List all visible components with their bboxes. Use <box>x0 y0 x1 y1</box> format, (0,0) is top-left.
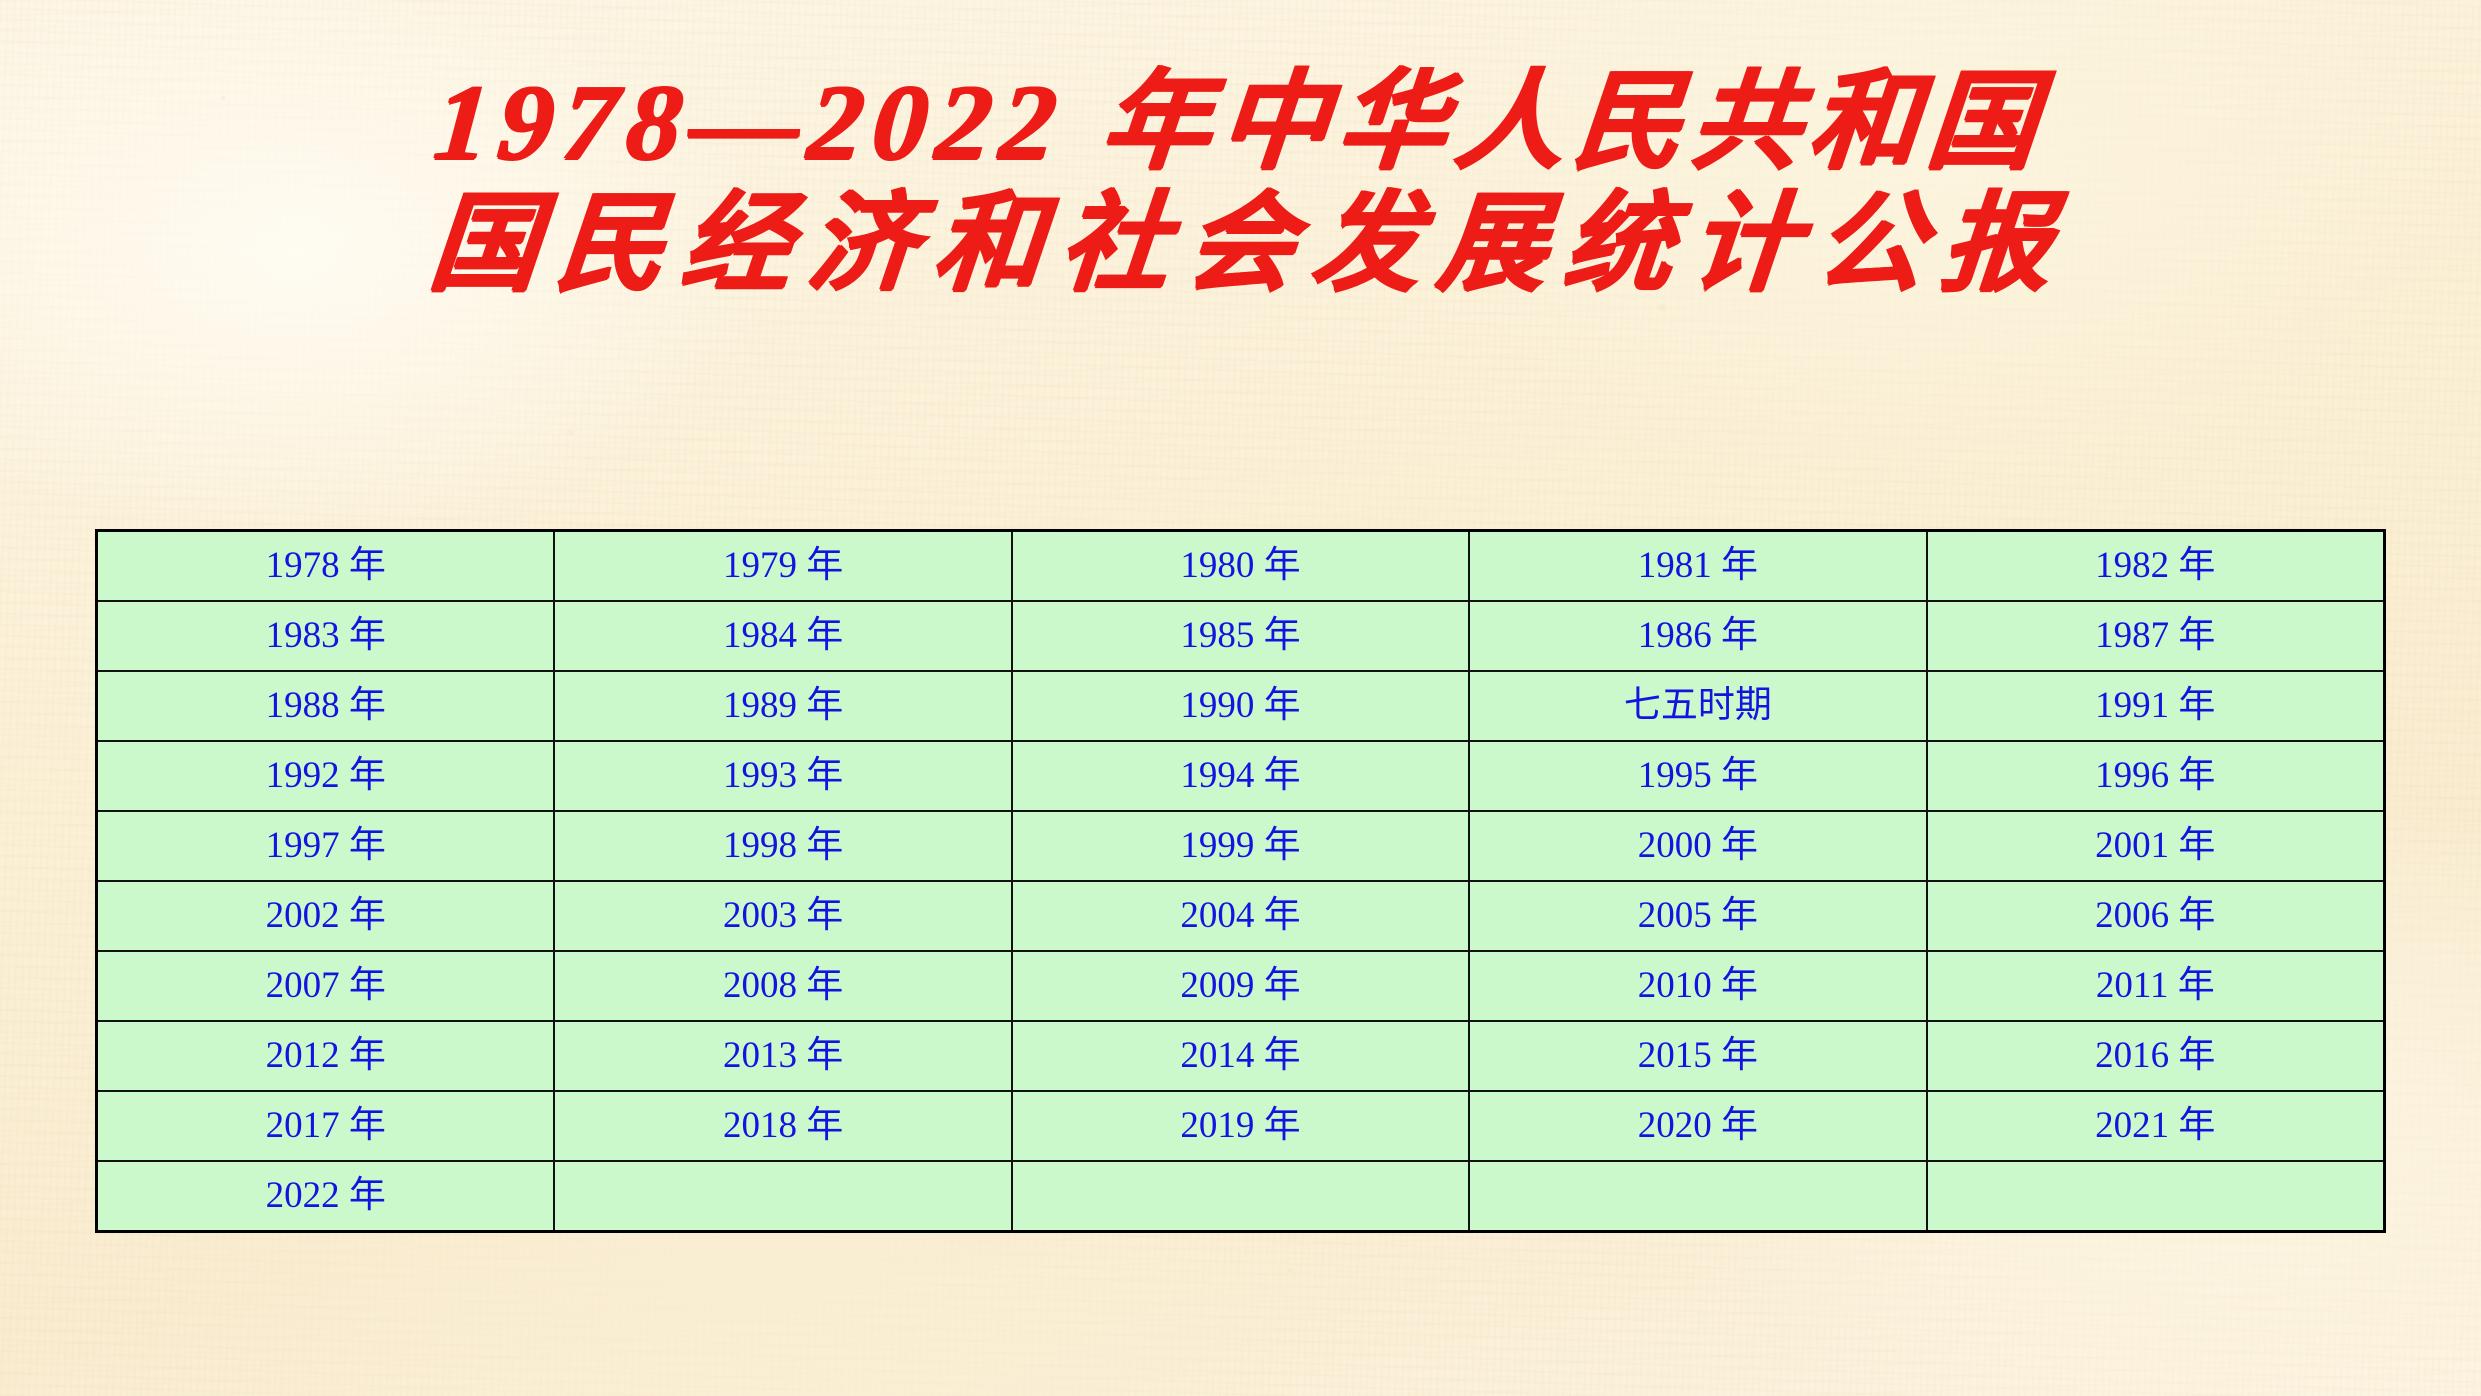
year-cell[interactable]: 2014 年 <box>1012 1021 1469 1091</box>
year-cell[interactable]: 2008 年 <box>554 951 1011 1021</box>
year-cell[interactable]: 2021 年 <box>1927 1091 2385 1161</box>
year-cell[interactable]: 2000 年 <box>1469 811 1926 881</box>
year-cell[interactable]: 1991 年 <box>1927 671 2385 741</box>
year-cell[interactable]: 1978 年 <box>97 531 555 602</box>
year-index-table-body: 1978 年1979 年1980 年1981 年1982 年1983 年1984… <box>97 531 2385 1232</box>
table-row: 1988 年1989 年1990 年七五时期1991 年 <box>97 671 2385 741</box>
year-cell[interactable]: 1979 年 <box>554 531 1011 602</box>
year-cell[interactable]: 1983 年 <box>97 601 555 671</box>
year-cell[interactable]: 2002 年 <box>97 881 555 951</box>
year-cell[interactable]: 1992 年 <box>97 741 555 811</box>
year-cell[interactable]: 1994 年 <box>1012 741 1469 811</box>
year-cell[interactable]: 2017 年 <box>97 1091 555 1161</box>
year-cell[interactable]: 1993 年 <box>554 741 1011 811</box>
table-row: 2017 年2018 年2019 年2020 年2021 年 <box>97 1091 2385 1161</box>
year-cell[interactable]: 1987 年 <box>1927 601 2385 671</box>
year-cell-empty <box>1012 1161 1469 1232</box>
table-row: 1983 年1984 年1985 年1986 年1987 年 <box>97 601 2385 671</box>
year-cell[interactable]: 2015 年 <box>1469 1021 1926 1091</box>
year-cell[interactable]: 1980 年 <box>1012 531 1469 602</box>
year-cell[interactable]: 1984 年 <box>554 601 1011 671</box>
year-cell[interactable]: 七五时期 <box>1469 671 1926 741</box>
table-row: 2002 年2003 年2004 年2005 年2006 年 <box>97 881 2385 951</box>
year-cell[interactable]: 2004 年 <box>1012 881 1469 951</box>
year-cell[interactable]: 2003 年 <box>554 881 1011 951</box>
year-cell[interactable]: 2018 年 <box>554 1091 1011 1161</box>
year-cell[interactable]: 1988 年 <box>97 671 555 741</box>
table-row: 1992 年1993 年1994 年1995 年1996 年 <box>97 741 2385 811</box>
title-line-1: 1978—2022 年中华人民共和国 <box>0 62 2481 184</box>
title-line-2: 国民经济和社会发展统计公报 <box>0 184 2481 306</box>
year-cell[interactable]: 1995 年 <box>1469 741 1926 811</box>
year-cell-empty <box>1927 1161 2385 1232</box>
year-cell[interactable]: 1989 年 <box>554 671 1011 741</box>
year-cell[interactable]: 1986 年 <box>1469 601 1926 671</box>
year-cell[interactable]: 1999 年 <box>1012 811 1469 881</box>
year-cell[interactable]: 1982 年 <box>1927 531 2385 602</box>
year-cell[interactable]: 1996 年 <box>1927 741 2385 811</box>
year-cell[interactable]: 2009 年 <box>1012 951 1469 1021</box>
year-index-table: 1978 年1979 年1980 年1981 年1982 年1983 年1984… <box>95 529 2386 1233</box>
year-cell[interactable]: 2013 年 <box>554 1021 1011 1091</box>
year-cell-empty <box>1469 1161 1926 1232</box>
table-row: 2007 年2008 年2009 年2010 年2011 年 <box>97 951 2385 1021</box>
year-cell[interactable]: 2006 年 <box>1927 881 2385 951</box>
year-cell[interactable]: 2012 年 <box>97 1021 555 1091</box>
year-cell[interactable]: 2011 年 <box>1927 951 2385 1021</box>
year-cell-empty <box>554 1161 1011 1232</box>
year-cell[interactable]: 2001 年 <box>1927 811 2385 881</box>
year-cell[interactable]: 1997 年 <box>97 811 555 881</box>
year-cell[interactable]: 2007 年 <box>97 951 555 1021</box>
year-cell[interactable]: 2020 年 <box>1469 1091 1926 1161</box>
table-row: 2012 年2013 年2014 年2015 年2016 年 <box>97 1021 2385 1091</box>
table-row: 2022 年 <box>97 1161 2385 1232</box>
publication-cover-page: 1978—2022 年中华人民共和国 国民经济和社会发展统计公报 1978 年1… <box>0 0 2481 1396</box>
year-cell[interactable]: 2010 年 <box>1469 951 1926 1021</box>
year-cell[interactable]: 2019 年 <box>1012 1091 1469 1161</box>
year-cell[interactable]: 1998 年 <box>554 811 1011 881</box>
table-row: 1978 年1979 年1980 年1981 年1982 年 <box>97 531 2385 602</box>
year-cell[interactable]: 2022 年 <box>97 1161 555 1232</box>
year-cell[interactable]: 1981 年 <box>1469 531 1926 602</box>
year-cell[interactable]: 2005 年 <box>1469 881 1926 951</box>
year-cell[interactable]: 2016 年 <box>1927 1021 2385 1091</box>
page-title: 1978—2022 年中华人民共和国 国民经济和社会发展统计公报 <box>0 62 2481 306</box>
year-cell[interactable]: 1990 年 <box>1012 671 1469 741</box>
year-cell[interactable]: 1985 年 <box>1012 601 1469 671</box>
table-row: 1997 年1998 年1999 年2000 年2001 年 <box>97 811 2385 881</box>
